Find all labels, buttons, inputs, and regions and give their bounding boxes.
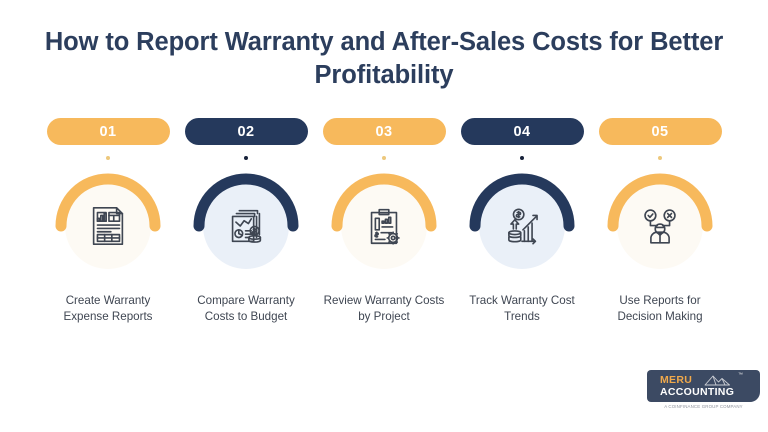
step-caption-01: Create Warranty Expense Reports — [45, 293, 171, 326]
logo-tagline: A COINFINANCE GROUP COMPANY — [647, 404, 760, 409]
step-caption-03: Review Warranty Costs by Project — [321, 293, 447, 326]
connector-dot-04 — [520, 156, 524, 160]
step-icon-circle-01 — [53, 171, 163, 281]
step-item-05: 05 — [596, 118, 724, 326]
step-caption-02: Compare Warranty Costs to Budget — [183, 293, 309, 326]
connector-dot-03 — [382, 156, 386, 160]
steps-row: 01 — [44, 118, 724, 326]
step-number-badge-03: 03 — [323, 118, 446, 145]
page-title: How to Report Warranty and After-Sales C… — [44, 26, 724, 91]
step-number-badge-02: 02 — [185, 118, 308, 145]
step-item-02: 02 — [182, 118, 310, 326]
step-item-03: 03 — [320, 118, 448, 326]
step-icon-circle-03 — [329, 171, 439, 281]
connector-dot-wrap-05 — [658, 145, 662, 171]
connector-dot-wrap-02 — [244, 145, 248, 171]
step-icon-circle-05 — [605, 171, 715, 281]
growth-chart-dollar-coins-icon — [499, 203, 545, 249]
step-number-badge-01: 01 — [47, 118, 170, 145]
logo-name-secondary: ACCOUNTING — [660, 386, 734, 398]
connector-dot-wrap-04 — [520, 145, 524, 171]
step-item-04: 04 — [458, 118, 586, 326]
clipboard-gear-icon — [361, 203, 407, 249]
report-document-bar-chart-icon — [85, 203, 131, 249]
connector-dot-01 — [106, 156, 110, 160]
connector-dot-05 — [658, 156, 662, 160]
step-number-badge-05: 05 — [599, 118, 722, 145]
documents-line-chart-coins-icon — [223, 203, 269, 249]
step-caption-05: Use Reports for Decision Making — [597, 293, 723, 326]
person-decision-check-cross-icon — [637, 203, 683, 249]
infographic-page: How to Report Warranty and After-Sales C… — [0, 0, 768, 432]
connector-dot-wrap-03 — [382, 145, 386, 171]
connector-dot-wrap-01 — [106, 145, 110, 171]
brand-logo: MERU ™ ACCOUNTING A COINFINANCE GROUP CO… — [647, 370, 760, 418]
step-icon-circle-02 — [191, 171, 301, 281]
step-icon-circle-04 — [467, 171, 577, 281]
step-caption-04: Track Warranty Cost Trends — [459, 293, 585, 326]
mountain-peaks-icon — [704, 374, 734, 386]
connector-dot-02 — [244, 156, 248, 160]
step-number-badge-04: 04 — [461, 118, 584, 145]
logo-name-primary: MERU — [660, 374, 692, 386]
step-item-01: 01 — [44, 118, 172, 326]
logo-trademark: ™ — [738, 372, 743, 378]
